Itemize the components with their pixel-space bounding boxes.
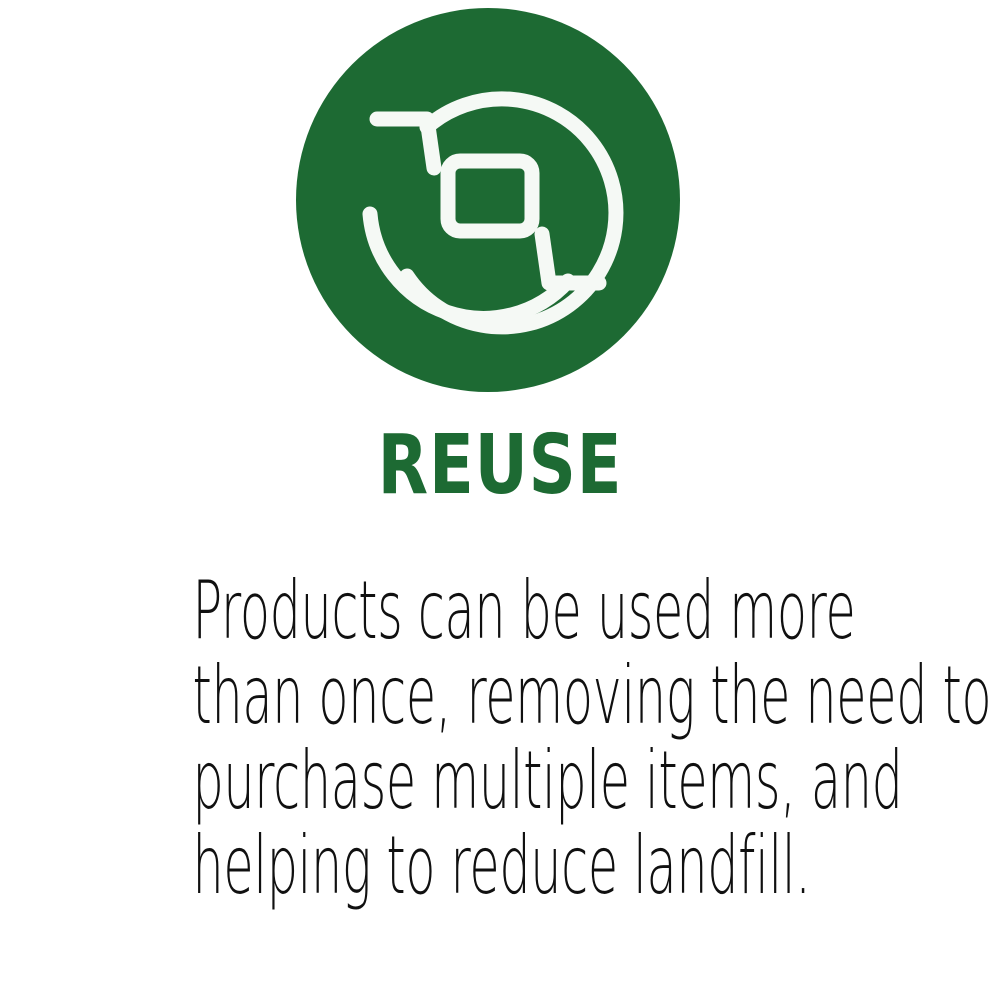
reuse-icon-badge <box>296 8 680 392</box>
body-line: purchase multiple items, and <box>193 738 808 823</box>
body-line: than once, removing the need to <box>193 653 808 738</box>
reuse-infographic-card: REUSE Products can be used more than onc… <box>0 0 1000 1000</box>
body-line: helping to reduce landfill. <box>193 823 808 908</box>
reuse-cycle-icon <box>296 8 680 392</box>
page-title: REUSE <box>100 424 900 508</box>
body-copy: Products can be used more than once, rem… <box>0 568 1000 908</box>
body-line: Products can be used more <box>193 568 808 653</box>
